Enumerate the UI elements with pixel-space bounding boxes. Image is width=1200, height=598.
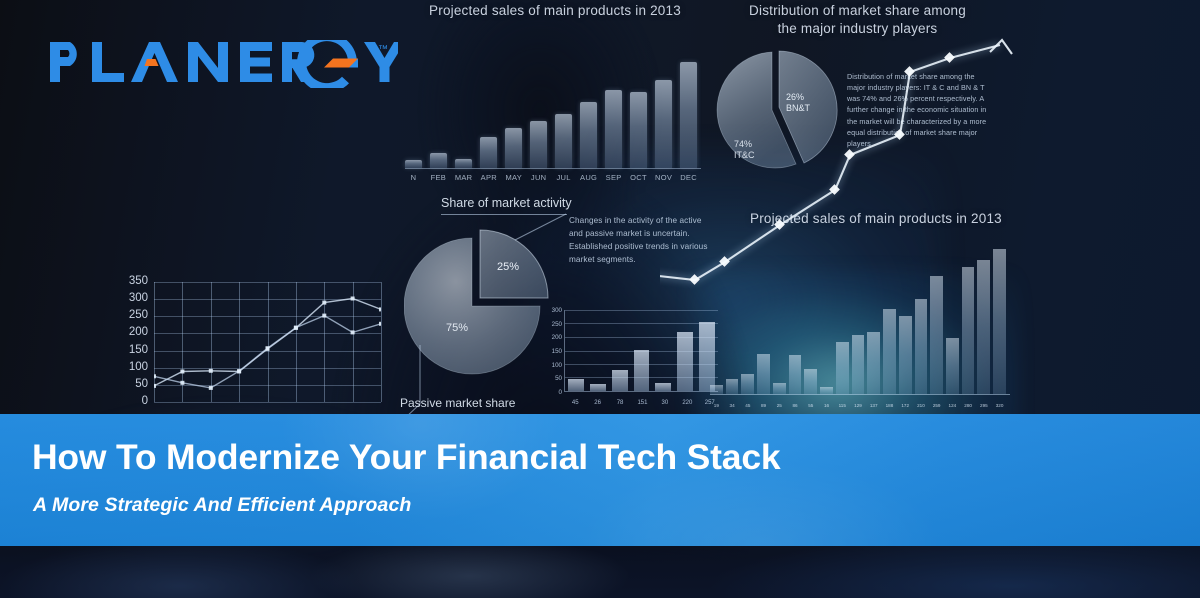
bar <box>741 374 754 394</box>
x-label: NOV <box>655 173 672 182</box>
y-label: 300 <box>540 307 562 314</box>
x-label: 55 <box>804 403 817 408</box>
data-point <box>209 369 213 373</box>
top-bar-chart-axis <box>405 168 701 169</box>
x-label: APR <box>480 173 497 182</box>
x-label: 19 <box>710 403 723 408</box>
right-bar-chart-axis <box>710 394 1010 395</box>
bar <box>726 379 739 394</box>
data-point <box>154 384 156 388</box>
y-label: 100 <box>540 362 562 369</box>
x-label: N <box>405 173 422 182</box>
svg-text:74%: 74% <box>734 139 752 149</box>
data-point <box>322 301 326 305</box>
bar <box>590 384 606 391</box>
bar <box>405 160 422 168</box>
bar <box>505 128 522 168</box>
y-label: 0 <box>540 389 562 396</box>
y-label: 250 <box>118 309 148 321</box>
bar <box>757 354 770 394</box>
y-label: 0 <box>118 395 148 407</box>
bar <box>634 350 650 391</box>
bar <box>480 137 497 168</box>
right-bar-chart-bars <box>710 244 1006 394</box>
x-label: 320 <box>993 403 1006 408</box>
svg-text:IT&C: IT&C <box>734 150 755 160</box>
bar <box>820 387 833 394</box>
line-series <box>154 316 381 388</box>
x-label: 137 <box>867 403 880 408</box>
x-label: 220 <box>679 400 695 406</box>
bar <box>930 276 943 394</box>
x-label: OCT <box>630 173 647 182</box>
x-label: 25 <box>773 403 786 408</box>
data-point <box>180 381 184 385</box>
bottom-highlights <box>0 546 1200 598</box>
market-activity-description: Changes in the activity of the active an… <box>569 214 710 267</box>
passive-market-share-caption: Passive market share <box>400 396 515 410</box>
bar <box>993 249 1006 394</box>
x-label: SEP <box>605 173 622 182</box>
x-label: JUN <box>530 173 547 182</box>
line-series <box>154 299 381 386</box>
data-point <box>379 322 381 326</box>
bar <box>630 92 647 168</box>
hero-banner-image: Projected sales of main products in 2013… <box>0 0 1200 598</box>
x-label: 115 <box>836 403 849 408</box>
x-label: 280 <box>962 403 975 408</box>
market-share-pie-chart: 26% BN&T 74% IT&C <box>710 46 840 176</box>
x-label: 172 <box>899 403 912 408</box>
data-point <box>266 346 270 350</box>
market-share-description: Distribution of market share among the m… <box>847 71 995 149</box>
bar <box>568 379 584 391</box>
y-label: 150 <box>118 344 148 356</box>
mid-bar-chart-plot <box>564 310 718 392</box>
y-label: 200 <box>118 326 148 338</box>
data-point <box>294 326 298 330</box>
bar <box>710 385 723 394</box>
left-line-chart-plot <box>154 282 381 402</box>
y-label: 300 <box>118 292 148 304</box>
x-label: 34 <box>726 403 739 408</box>
bar <box>915 299 928 394</box>
mid-bar-chart-x-labels: 45267815130220257 <box>567 400 718 406</box>
market-share-pie-title-line1: Distribution of market share among <box>740 3 975 18</box>
x-label: 124 <box>946 403 959 408</box>
bar <box>612 370 628 391</box>
svg-text:26%: 26% <box>786 92 804 102</box>
bar <box>655 383 671 391</box>
bar <box>836 342 849 394</box>
bar <box>430 153 447 168</box>
banner-sheen <box>0 414 1200 546</box>
y-label: 350 <box>118 275 148 287</box>
x-label: 129 <box>852 403 865 408</box>
data-point <box>379 307 381 311</box>
y-label: 150 <box>540 348 562 355</box>
bar <box>946 338 959 394</box>
bar <box>773 383 786 394</box>
trademark-symbol: ™ <box>378 44 388 55</box>
bar <box>899 316 912 394</box>
page-subtitle: A More Strategic And Efficient Approach <box>33 494 411 517</box>
planergy-logo[interactable]: ™ <box>48 40 398 88</box>
x-label: 259 <box>930 403 943 408</box>
data-point <box>180 370 184 374</box>
right-bar-chart-x-labels: 1934458925865516115129137188172210259124… <box>710 403 1006 408</box>
y-label: 50 <box>118 378 148 390</box>
bar <box>867 332 880 394</box>
x-label: 188 <box>883 403 896 408</box>
x-label: JUL <box>555 173 572 182</box>
x-label: 89 <box>757 403 770 408</box>
left-line-chart: 350300250200150100500 <box>118 276 383 416</box>
top-bar-chart-x-labels: NFEBMARAPRMAYJUNJULAUGSEPOCTNOVDEC <box>405 173 697 182</box>
data-point <box>322 314 326 318</box>
x-label: 45 <box>567 400 583 406</box>
x-label: 30 <box>657 400 673 406</box>
x-label: AUG <box>580 173 597 182</box>
x-label: 210 <box>915 403 928 408</box>
top-bar-chart-title: Projected sales of main products in 2013 <box>405 3 705 18</box>
y-label: 250 <box>540 321 562 328</box>
bar <box>883 309 896 394</box>
bar <box>455 159 472 168</box>
x-label: 78 <box>612 400 628 406</box>
page-title: How To Modernize Your Financial Tech Sta… <box>32 437 780 478</box>
top-bar-chart: NFEBMARAPRMAYJUNJULAUGSEPOCTNOVDEC <box>405 52 705 182</box>
data-point <box>209 386 213 390</box>
bar <box>789 355 802 394</box>
data-point <box>351 330 355 334</box>
bar <box>977 260 990 394</box>
title-banner: How To Modernize Your Financial Tech Sta… <box>0 414 1200 546</box>
right-bar-chart: 1934458925865516115129137188172210259124… <box>710 196 1010 410</box>
bar <box>555 114 572 168</box>
bar <box>962 267 975 394</box>
x-label: 151 <box>634 400 650 406</box>
x-label: 86 <box>789 403 802 408</box>
bar <box>677 332 693 391</box>
top-bar-chart-bars <box>405 56 697 168</box>
bar <box>680 62 697 168</box>
x-label: DEC <box>680 173 697 182</box>
y-label: 100 <box>118 361 148 373</box>
bar <box>605 90 622 168</box>
x-label: 295 <box>977 403 990 408</box>
market-share-pie-title-line2: the major industry players <box>740 21 975 36</box>
data-point <box>237 369 241 373</box>
x-label: 16 <box>820 403 833 408</box>
bar <box>580 102 597 168</box>
mid-bar-chart-bars <box>568 310 715 391</box>
bar <box>655 80 672 168</box>
x-label: MAR <box>455 173 473 182</box>
x-label: MAY <box>505 173 522 182</box>
bar <box>804 369 817 394</box>
y-label: 200 <box>540 334 562 341</box>
left-line-chart-series <box>154 282 381 402</box>
svg-text:BN&T: BN&T <box>786 103 811 113</box>
mid-bar-chart: 300250200150100500 45267815130220257 <box>540 308 718 408</box>
bar <box>852 335 865 394</box>
y-label: 50 <box>540 375 562 382</box>
data-point <box>154 374 156 378</box>
x-label: FEB <box>430 173 447 182</box>
planergy-wordmark-icon: ™ <box>48 40 398 88</box>
x-label: 45 <box>741 403 754 408</box>
x-label: 26 <box>589 400 605 406</box>
data-point <box>351 297 355 301</box>
bar <box>530 121 547 168</box>
